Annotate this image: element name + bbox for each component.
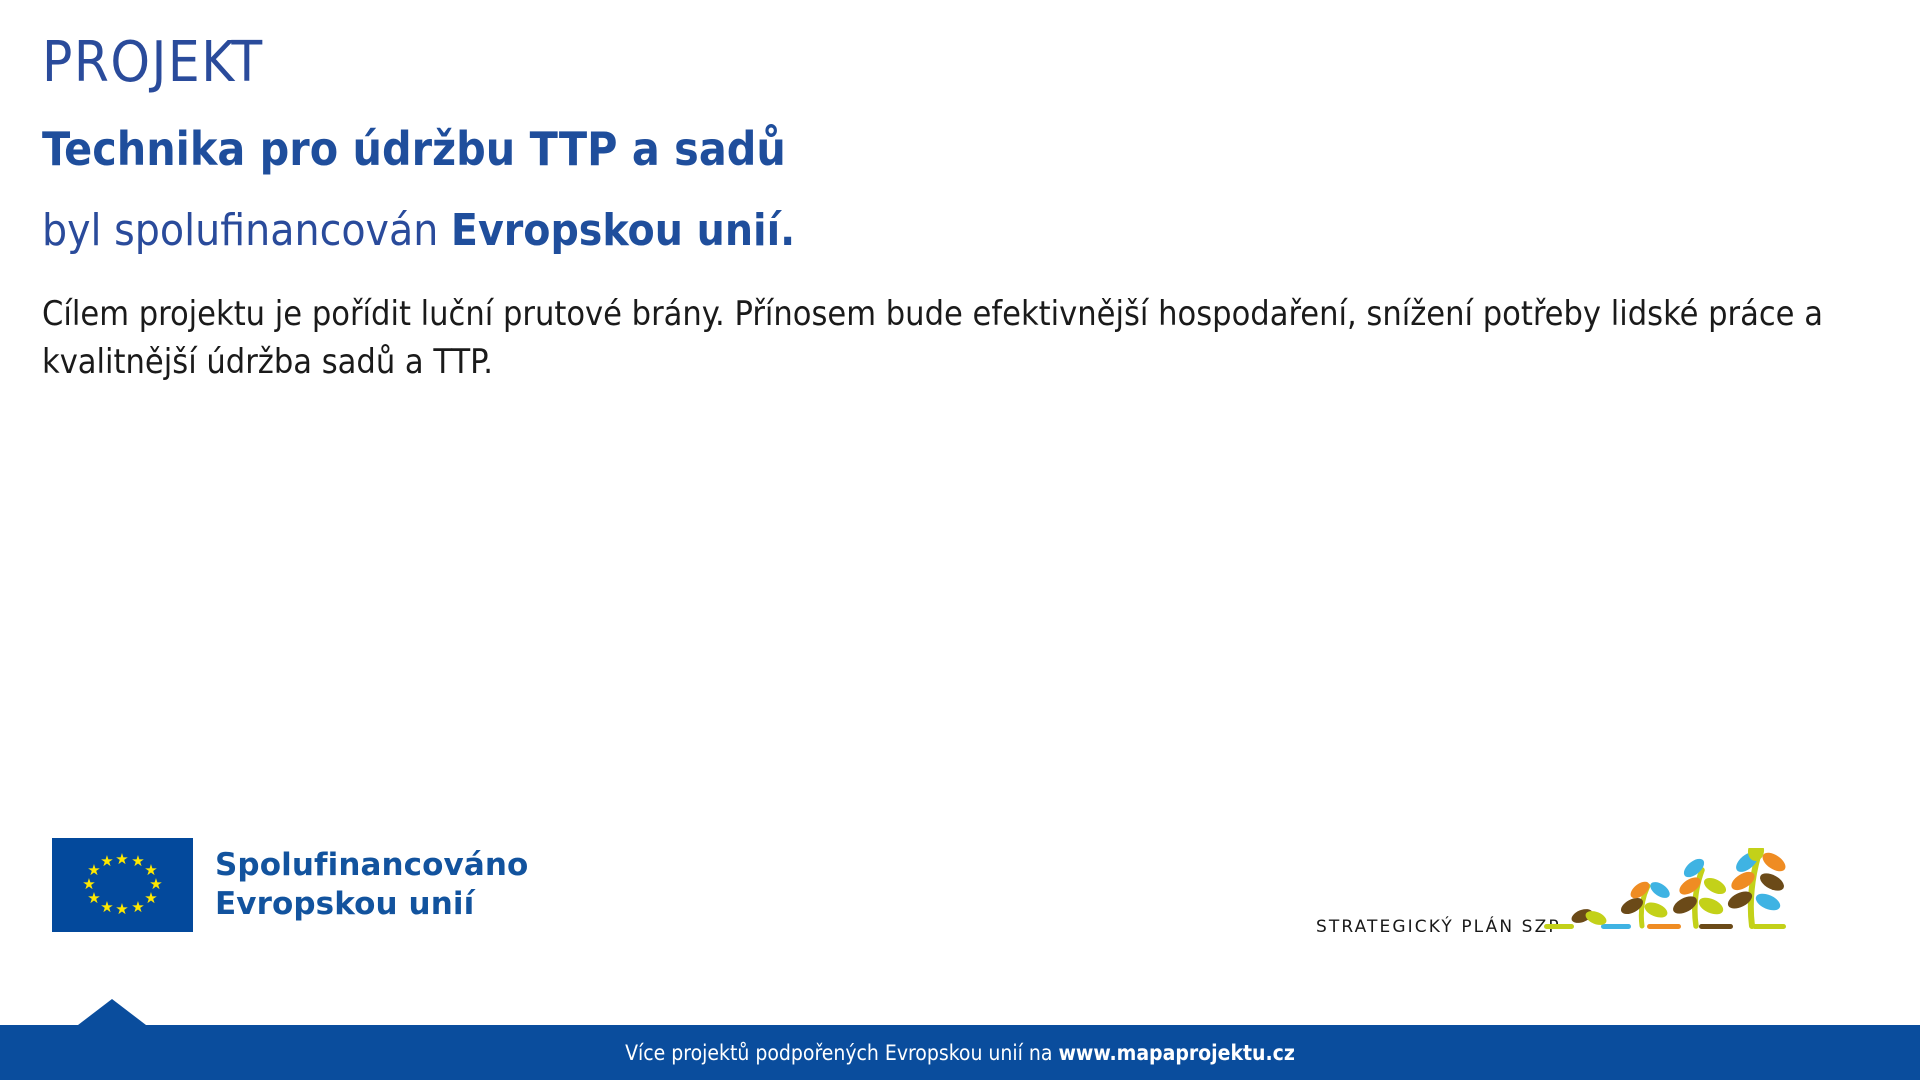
eu-star: ★ [131, 855, 145, 869]
eu-star: ★ [115, 853, 129, 867]
eu-star: ★ [144, 892, 158, 906]
eu-star: ★ [87, 892, 101, 906]
eu-logo-label-line2: Evropskou unií [215, 885, 528, 924]
eu-star: ★ [87, 864, 101, 878]
footer-triangle-notch [78, 999, 146, 1025]
slide-canvas: PROJEKT Technika pro údržbu TTP a sadů b… [0, 0, 1920, 1080]
funding-statement: byl spolufinancován Evropskou unií. [42, 206, 1892, 257]
eu-logo-label: Spolufinancováno Evropskou unií [215, 846, 528, 924]
eu-star: ★ [115, 903, 129, 917]
eu-star: ★ [131, 901, 145, 915]
eu-star: ★ [100, 855, 114, 869]
eu-flag-icon: ★ ★ ★ ★ ★ ★ ★ ★ ★ ★ ★ ★ [52, 838, 193, 932]
szp-strategic-plan-logo: STRATEGICKÝ PLÁN SZP [1316, 850, 1816, 970]
eu-star: ★ [82, 878, 96, 892]
eu-logo-label-line1: Spolufinancováno [215, 846, 528, 885]
szp-logo-label: STRATEGICKÝ PLÁN SZP [1316, 917, 1561, 937]
page-kicker: PROJEKT [42, 32, 1892, 95]
footer-text: Více projektů podpořených Evropskou unií… [0, 1025, 1920, 1080]
growing-plants-icon [1544, 848, 1809, 963]
content-block: PROJEKT Technika pro údržbu TTP a sadů b… [42, 32, 1892, 387]
footer-bar: Více projektů podpořených Evropskou unií… [0, 1025, 1920, 1080]
footer-message: Více projektů podpořených Evropskou unií… [625, 1041, 1052, 1065]
footer-site-link[interactable]: www.mapaprojektu.cz [1058, 1041, 1294, 1065]
page-title: Technika pro údržbu TTP a sadů [42, 123, 1892, 176]
project-description: Cílem projektu je pořídit luční prutové … [42, 290, 1862, 387]
eu-star: ★ [100, 901, 114, 915]
funding-prefix: byl spolufinancován [42, 205, 451, 256]
funding-emphasis: Evropskou unií. [451, 205, 795, 256]
eu-cofunding-logo: ★ ★ ★ ★ ★ ★ ★ ★ ★ ★ ★ ★ Spolufinancováno… [52, 838, 528, 932]
